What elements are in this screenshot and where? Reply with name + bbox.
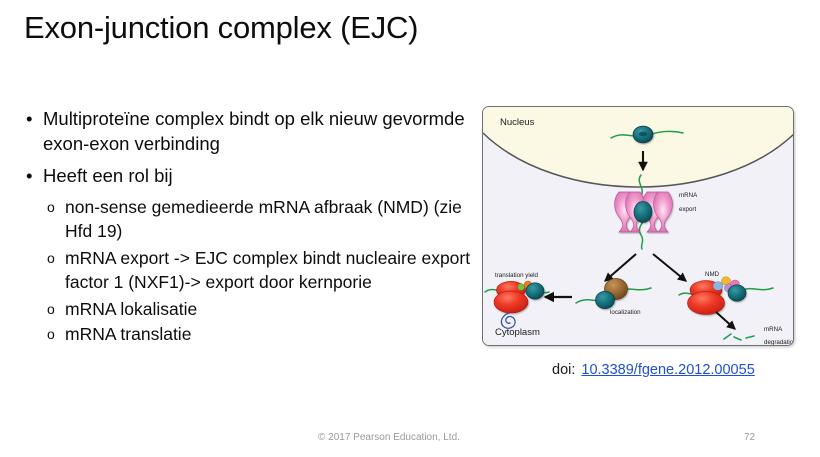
bullet-marker: o: [47, 246, 55, 271]
bullet-text: Multiproteïne complex bindt op elk nieuw…: [43, 108, 465, 154]
bullet-text: non-sense gemedieerde mRNA afbraak (NMD)…: [65, 197, 462, 241]
bullet-item-nmd: o non-sense gemedieerde mRNA afbraak (NM…: [24, 195, 484, 243]
nmd-label: NMD: [705, 271, 720, 278]
ejc-complex-nmd: [728, 285, 746, 301]
ejc-complex-in-pore: [634, 202, 652, 223]
ejc-complex-translation: [526, 283, 544, 299]
mrna-export-label-line2: export: [679, 206, 696, 213]
mrna-degradation-label-line2: degradation: [764, 339, 794, 346]
mrna-export-label-line1: mRNA: [679, 192, 698, 199]
localization-label: localization: [610, 309, 641, 316]
bullet-item-mrna-translatie: o mRNA translatie: [24, 322, 484, 346]
footer-copyright: © 2017 Pearson Education, Ltd.: [318, 432, 460, 443]
translation-yield-label: translation yield: [495, 272, 539, 279]
bullet-text: Heeft een rol bij: [43, 165, 173, 186]
bullet-marker: o: [47, 195, 55, 220]
bullet-item-multiprotein: • Multiproteïne complex bindt op elk nie…: [24, 106, 484, 156]
bullet-text: mRNA export -> EJC complex bindt nucleai…: [65, 248, 470, 292]
cytoplasm-label: Cytoplasm: [495, 327, 540, 338]
doi-link[interactable]: 10.3389/fgene.2012.00055: [581, 362, 754, 378]
ejc-complex-nuclear: [633, 126, 653, 143]
bullet-marker: o: [47, 297, 55, 322]
bullet-marker: o: [47, 322, 55, 347]
bullet-text: mRNA lokalisatie: [65, 299, 197, 319]
bullet-item-heeft-een-rol-bij: • Heeft een rol bij: [24, 163, 484, 188]
figure-illustration: Nucleus: [483, 107, 794, 346]
figure-frame: Nucleus: [482, 106, 794, 346]
nucleus-label: Nucleus: [500, 117, 535, 128]
bullet-marker: •: [26, 163, 32, 188]
bullet-marker: •: [26, 106, 32, 131]
page-title: Exon-junction complex (EJC): [24, 8, 784, 48]
doi-line: doi:10.3389/fgene.2012.00055: [552, 360, 755, 380]
bullet-text: mRNA translatie: [65, 324, 191, 344]
bullet-list: • Multiproteïne complex bindt op elk nie…: [24, 106, 484, 347]
mrna-degradation-label-line1: mRNA: [764, 326, 783, 333]
bullet-item-mrna-export: o mRNA export -> EJC complex bindt nucle…: [24, 246, 484, 294]
bullet-item-mrna-lokalisatie: o mRNA lokalisatie: [24, 297, 484, 321]
doi-label: doi:: [552, 362, 575, 378]
page-number: 72: [744, 432, 755, 443]
slide-canvas: Exon-junction complex (EJC) • Multiprote…: [0, 0, 820, 457]
ejc-complex-localization: [596, 291, 615, 308]
ejc-pathway-figure: Nucleus: [482, 106, 794, 346]
